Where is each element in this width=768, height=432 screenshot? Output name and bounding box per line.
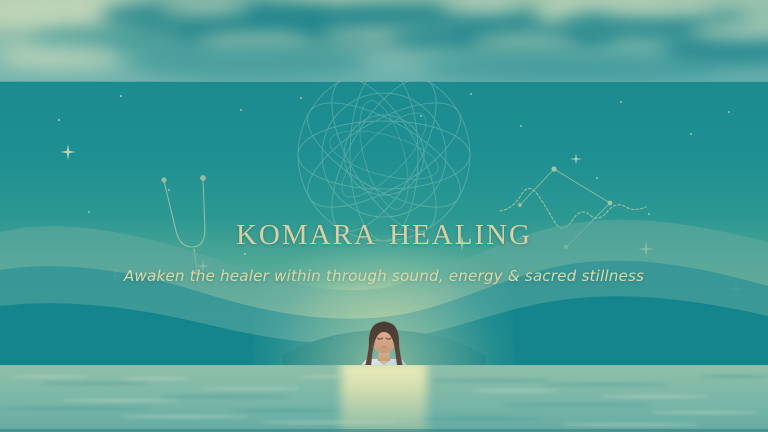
sparkle-icon (60, 144, 76, 160)
sky-band (0, 0, 768, 82)
star-icon (120, 95, 122, 97)
banner-panel: Komara Healing Awaken the healer within … (0, 81, 768, 366)
star-icon (240, 109, 242, 111)
figure-silhouette (309, 313, 459, 366)
meditating-figure (309, 313, 459, 366)
sparkle-icon (570, 153, 582, 165)
water-reflection (0, 365, 768, 432)
star-icon (300, 97, 302, 99)
star-icon (520, 125, 522, 127)
cloud-layer (0, 0, 768, 82)
page-title: Komara Healing (0, 209, 768, 252)
star-icon (620, 101, 622, 103)
star-icon (420, 115, 422, 117)
star-icon (690, 133, 692, 135)
star-icon (470, 93, 472, 95)
tagline: Awaken the healer within through sound, … (0, 267, 768, 285)
banner-image: Komara Healing Awaken the healer within … (0, 0, 768, 432)
star-icon (58, 119, 60, 121)
star-icon (728, 111, 730, 113)
